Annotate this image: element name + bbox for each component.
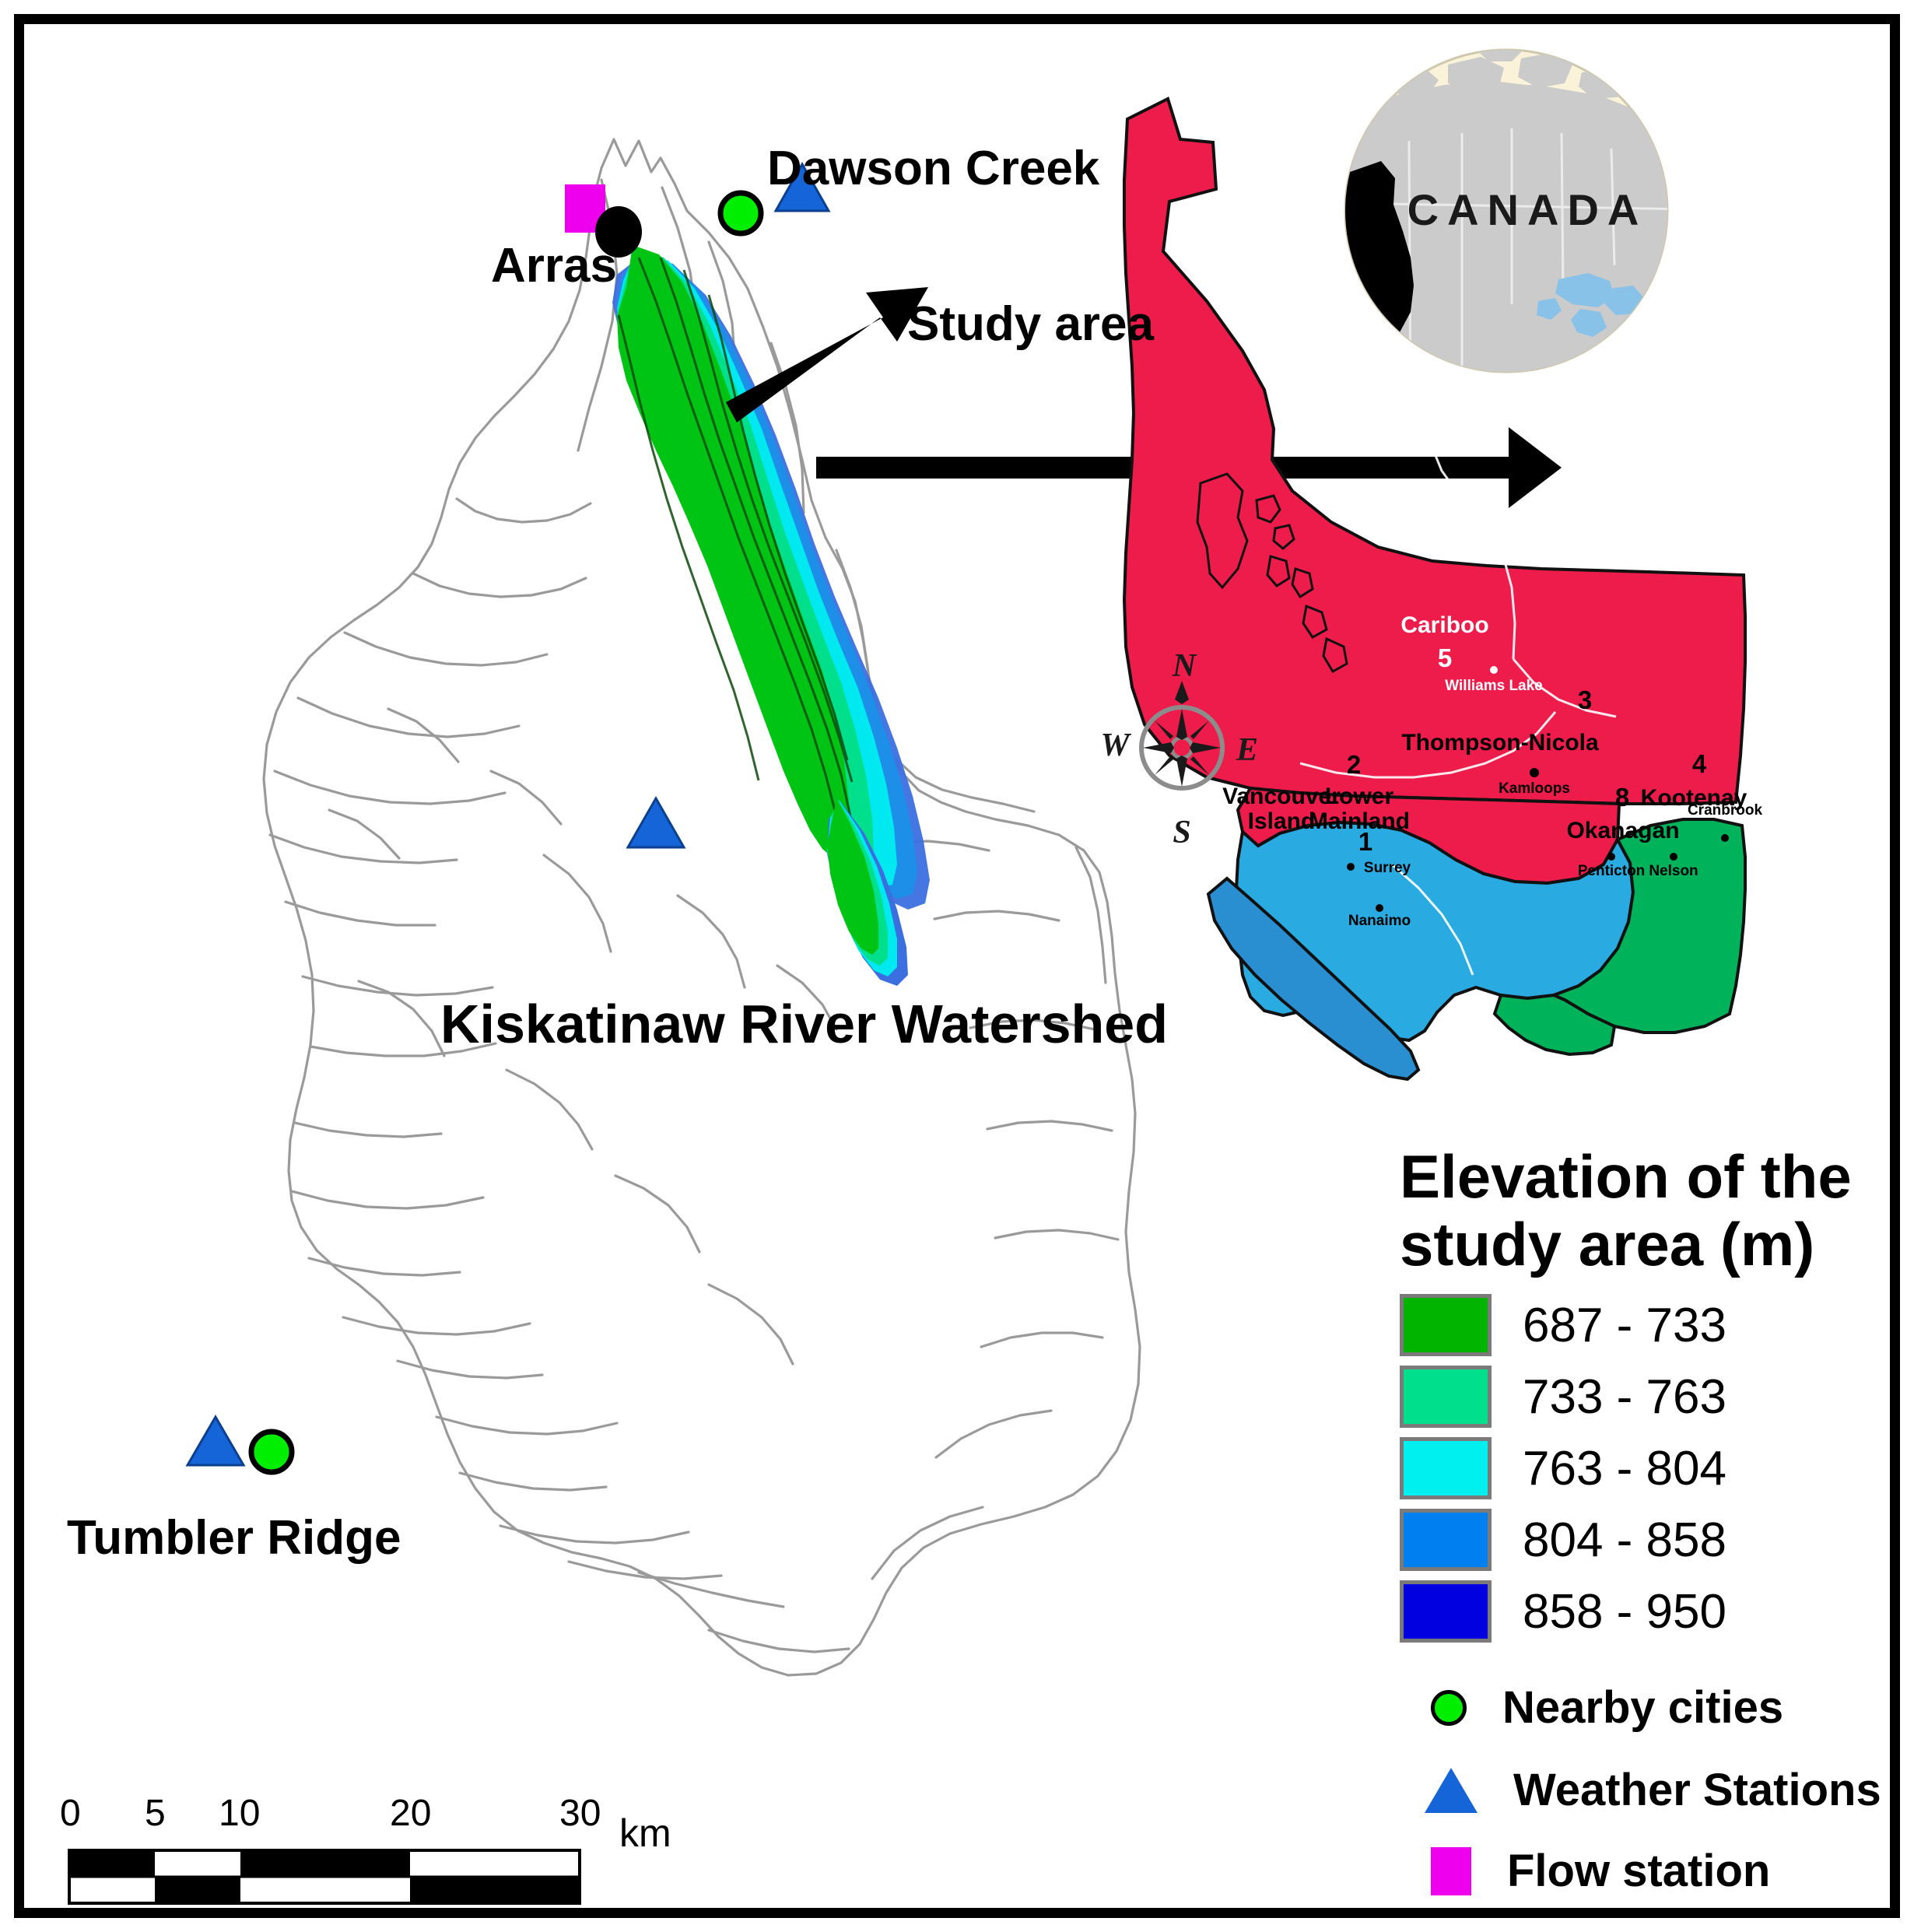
legend-label-733-763: 733 - 763: [1523, 1369, 1726, 1425]
inset-region-number-5: 5: [1438, 643, 1452, 672]
legend-title: Elevation of the study area (m): [1400, 1143, 1898, 1279]
scale-bar: [69, 1850, 580, 1903]
scale-tick-0: 0: [60, 1792, 81, 1835]
legend-class-row: 858 - 950: [1400, 1580, 1726, 1643]
figure-root: ZONE B Peace 6 Skeena 7 ZONE A Omineca C…: [0, 0, 1914, 1932]
legend-symbol-row-cities: Nearby cities: [1431, 1681, 1783, 1734]
elevation-corridor: [612, 245, 930, 986]
inset-region-island: Island: [1248, 808, 1316, 834]
scale-unit-label: km: [619, 1814, 671, 1853]
label-tumbler-ridge: Tumbler Ridge: [67, 1514, 401, 1562]
label-dawson-creek: Dawson Creek: [767, 145, 1099, 193]
legend-label-763-804: 763 - 804: [1523, 1441, 1726, 1496]
inset-region-number-3: 3: [1578, 685, 1592, 714]
legend-swatch-687-733: [1400, 1294, 1492, 1356]
legend-label-858-950: 858 - 950: [1523, 1584, 1726, 1639]
svg-text:St. John: St. John: [1630, 351, 1688, 367]
scale-tick-5: 5: [145, 1792, 166, 1835]
tumbler-ridge-city-marker: [251, 1432, 292, 1472]
svg-text:Penticton: Penticton: [1578, 863, 1646, 879]
central-weather-station-marker: [628, 798, 684, 847]
tumbler-ridge-weather-station-marker: [188, 1417, 244, 1465]
canada-locator-inset: CANADA: [1333, 37, 1733, 465]
label-arras: Arras: [491, 242, 617, 290]
legend-swatch-858-950: [1400, 1580, 1492, 1643]
legend-label-flow-station: Flow station: [1507, 1845, 1770, 1897]
inset-region-number-2: 2: [1347, 750, 1361, 779]
svg-text:Fort: Fort: [1645, 335, 1674, 352]
inset-region-number-1: 1: [1358, 827, 1372, 856]
legend-label-804-858: 804 - 858: [1523, 1513, 1726, 1568]
legend-swatch-804-858: [1400, 1509, 1492, 1571]
legend-class-row: 687 - 733: [1400, 1294, 1726, 1356]
inset-region-cariboo: Cariboo: [1400, 612, 1488, 638]
legend-title-line2: study area (m): [1400, 1210, 1814, 1278]
compass-north: N: [1172, 648, 1197, 684]
legend-class-row: 763 - 804: [1400, 1437, 1726, 1499]
canada-label: CANADA: [1407, 185, 1648, 234]
inset-region-number-8: 8: [1615, 783, 1629, 812]
legend-label-nearby-cities: Nearby cities: [1502, 1681, 1783, 1734]
svg-text:Kamloops: Kamloops: [1499, 780, 1570, 797]
weather-stations-icon: [1425, 1768, 1478, 1813]
inset-region-number-4: 4: [1692, 749, 1707, 778]
dawson-creek-city-marker: [720, 193, 761, 233]
label-study-area: Study area: [907, 300, 1154, 349]
legend-class-row: 733 - 763: [1400, 1366, 1726, 1428]
compass-south: S: [1173, 815, 1190, 850]
legend-symbol-row-weather: Weather Stations: [1425, 1764, 1881, 1816]
map-canvas: ZONE B Peace 6 Skeena 7 ZONE A Omineca C…: [24, 24, 1890, 1908]
flow-station-icon: [1431, 1847, 1471, 1895]
inset-region-vancouver: Vancouver: [1222, 784, 1341, 809]
svg-text:Cranbrook: Cranbrook: [1688, 802, 1763, 819]
page-title: Kiskatinaw River Watershed: [440, 997, 1168, 1051]
legend-symbol-row-flow: Flow station: [1431, 1845, 1770, 1897]
svg-text:Nelson: Nelson: [1649, 863, 1698, 879]
scale-tick-10: 10: [219, 1792, 260, 1835]
svg-text:Prince George: Prince George: [1453, 525, 1554, 542]
svg-text:Williams Lake: Williams Lake: [1445, 678, 1543, 694]
legend-class-row: 804 - 858: [1400, 1509, 1726, 1571]
scale-tick-20: 20: [390, 1792, 431, 1835]
compass-west: W: [1100, 728, 1131, 763]
legend-label-687-733: 687 - 733: [1523, 1298, 1726, 1353]
inset-region-thompson-nicola: Thompson-Nicola: [1401, 730, 1599, 756]
svg-text:Smithers: Smithers: [1335, 477, 1398, 493]
scale-tick-30: 30: [559, 1792, 601, 1835]
nearby-cities-icon: [1431, 1690, 1467, 1726]
inset-region-okanagan: Okanagan: [1566, 818, 1679, 843]
legend-label-weather-stations: Weather Stations: [1513, 1764, 1881, 1816]
legend-swatch-733-763: [1400, 1366, 1492, 1428]
legend-title-line1: Elevation of the: [1400, 1142, 1852, 1211]
svg-text:Nanaimo: Nanaimo: [1348, 913, 1411, 929]
legend-swatch-763-804: [1400, 1437, 1492, 1499]
inset-region-number-6: 6: [1333, 230, 1347, 258]
svg-text:Surrey: Surrey: [1364, 860, 1411, 876]
compass-east: E: [1236, 732, 1258, 768]
